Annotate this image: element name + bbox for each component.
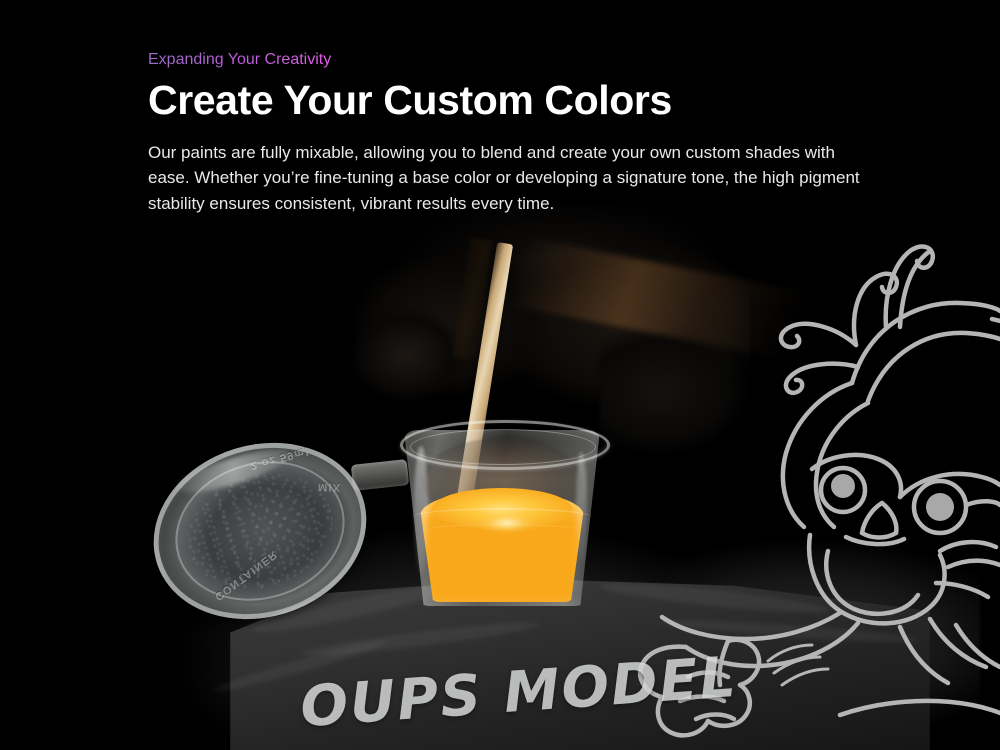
cup-ridge [414, 524, 588, 541]
cup-highlight-left [414, 446, 428, 574]
cup-highlight-right [576, 452, 587, 562]
paint-mixing-cup [398, 412, 606, 612]
lid-emboss-mix: MIX [318, 480, 341, 492]
eyebrow-text: Expanding Your Creativity [148, 50, 331, 70]
cup-rim-inner [410, 429, 596, 465]
body-paragraph: Our paints are fully mixable, allowing y… [148, 140, 860, 217]
slide-canvas: 2 oz 59ml CONTAINER MIX [0, 0, 1000, 750]
lid-emboss-container: CONTAINER [212, 548, 279, 603]
copy-block: Expanding Your Creativity Create Your Cu… [148, 50, 868, 216]
page-title: Create Your Custom Colors [148, 78, 868, 124]
